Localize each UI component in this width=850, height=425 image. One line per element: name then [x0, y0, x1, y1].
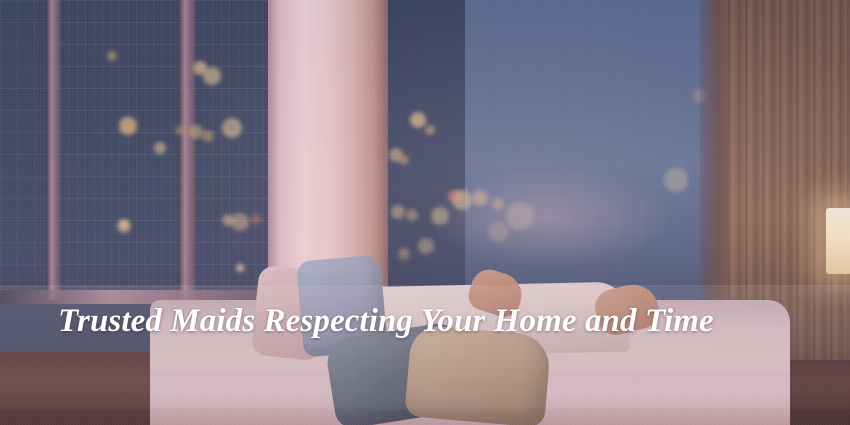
bokeh-light: [202, 130, 214, 142]
bokeh-light: [425, 125, 435, 135]
bokeh-light: [391, 205, 405, 219]
bokeh-light: [154, 142, 166, 154]
bokeh-light: [399, 155, 409, 165]
bokeh-light: [175, 125, 185, 135]
page-title: Trusted Maids Respecting Your Home and T…: [58, 303, 758, 340]
bokeh-light: [119, 117, 137, 135]
bokeh-light: [231, 213, 249, 231]
bokeh-light: [418, 238, 434, 254]
bokeh-light: [447, 191, 457, 201]
bokeh-light: [251, 214, 261, 224]
hero-banner: Trusted Maids Respecting Your Home and T…: [0, 0, 850, 425]
bokeh-light: [203, 67, 221, 85]
bokeh-light: [398, 248, 410, 260]
floor-lamp: [826, 208, 850, 274]
bokeh-light: [107, 51, 117, 61]
bokeh-light: [236, 264, 244, 272]
bokeh-light: [410, 112, 426, 128]
bokeh-light: [406, 209, 418, 221]
bokeh-light: [189, 125, 203, 139]
bokeh-light: [222, 118, 242, 138]
bokeh-light: [120, 221, 128, 229]
bokeh-light: [431, 207, 449, 225]
